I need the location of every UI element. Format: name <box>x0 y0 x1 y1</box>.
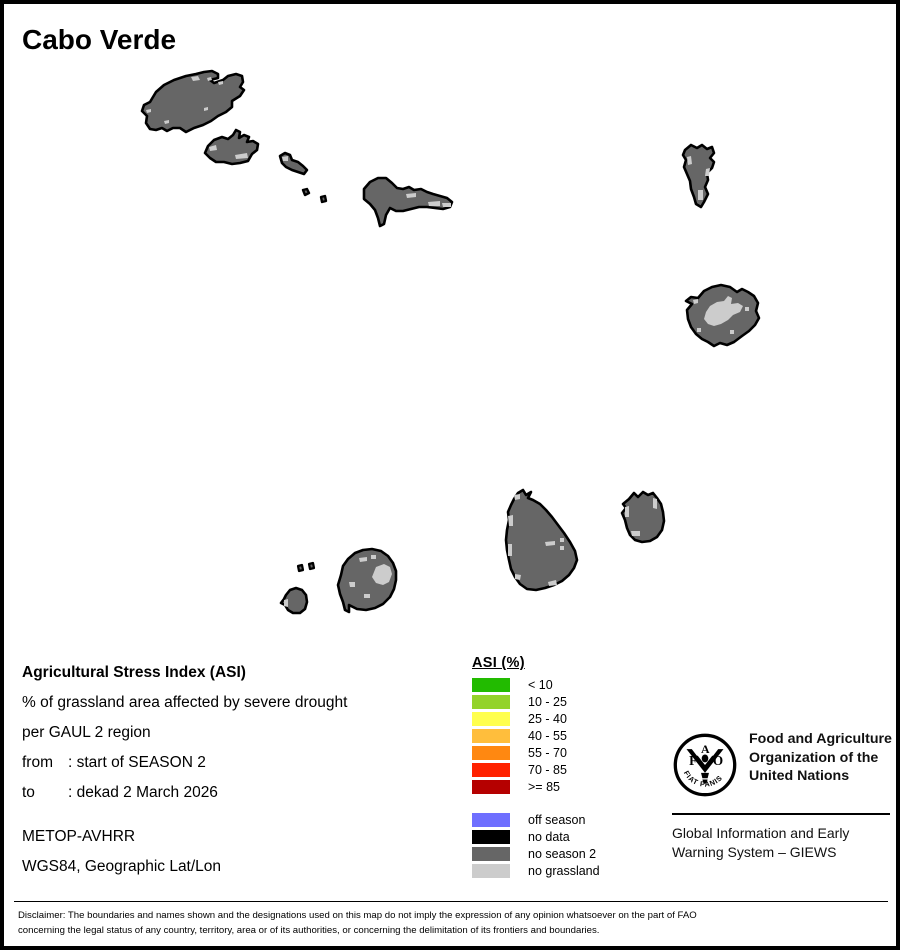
sensor-label: METOP-AVHRR <box>22 822 442 852</box>
branco-islet-landmass <box>303 189 309 195</box>
legend-row: no season 2 <box>472 845 600 862</box>
fogo-no-grassland-patch <box>364 594 370 598</box>
maio-no-grassland-patch <box>631 531 640 536</box>
period-from-value: : start of SEASON 2 <box>68 754 206 771</box>
legend-label: no season 2 <box>528 847 596 861</box>
legend-swatch <box>472 847 510 861</box>
legend-row: off season <box>472 811 600 828</box>
legend-row: < 10 <box>472 676 600 693</box>
info-heading: Agricultural Stress Index (ASI) <box>22 658 442 688</box>
rombos-islet-south-landmass <box>309 563 314 569</box>
period-to-value: : dekad 2 March 2026 <box>68 784 218 801</box>
santiago-no-grassland-patch <box>508 544 512 556</box>
island-sal <box>683 145 714 207</box>
legend-row: 40 - 55 <box>472 727 600 744</box>
info-description-line-1: % of grassland area affected by severe d… <box>22 688 442 718</box>
map-canvas <box>4 4 896 649</box>
fao-identity: F A O FIAT PANIS Food and Agriculture Or… <box>672 730 890 803</box>
fao-organization-line-1: Food and Agriculture <box>749 731 892 747</box>
fao-organization-line-3: United Nations <box>749 768 849 784</box>
santiago-no-grassland-patch <box>560 546 564 550</box>
legend-label: 40 - 55 <box>528 729 567 743</box>
boa-vista-no-grassland-patch <box>697 328 701 332</box>
legend-label: 25 - 40 <box>528 712 567 726</box>
legend-swatch <box>472 813 510 827</box>
island-brava <box>281 588 307 613</box>
island-santiago <box>506 490 577 590</box>
period-from-row: from: start of SEASON 2 <box>22 748 442 778</box>
island-santo-antao <box>142 71 244 132</box>
legend-label: 70 - 85 <box>528 763 567 777</box>
santa-luzia-landmass <box>280 153 307 174</box>
legend-row: no grassland <box>472 862 600 879</box>
svg-text:FIAT PANIS: FIAT PANIS <box>682 769 725 789</box>
fao-divider <box>672 813 890 815</box>
fogo-no-grassland-patch <box>371 555 376 559</box>
legend-swatch <box>472 830 510 844</box>
giews-programme-name: Global Information and Early Warning Sys… <box>672 824 890 862</box>
santiago-no-grassland-patch <box>514 494 520 500</box>
maio-no-grassland-patch <box>653 498 657 509</box>
santiago-no-grassland-patch <box>560 538 564 542</box>
legend-label: >= 85 <box>528 780 560 794</box>
legend-gap <box>472 795 600 811</box>
projection-label: WGS84, Geographic Lat/Lon <box>22 852 442 882</box>
sal-no-grassland-patch <box>698 190 703 200</box>
legend-swatch <box>472 763 510 777</box>
info-description-line-2: per GAUL 2 region <box>22 718 442 748</box>
legend: ASI (%) < 10 10 - 25 25 - 40 40 - 55 55 … <box>472 655 600 879</box>
info-block: Agricultural Stress Index (ASI) % of gra… <box>22 658 442 882</box>
sao-nicolau-no-grassland-patch <box>442 203 451 207</box>
legend-row: 70 - 85 <box>472 761 600 778</box>
fao-logo: F A O FIAT PANIS <box>672 732 738 803</box>
island-maio <box>622 492 664 542</box>
legend-swatch <box>472 729 510 743</box>
raso-islet-landmass <box>321 196 326 202</box>
legend-label: no grassland <box>528 864 600 878</box>
fao-organization-name: Food and Agriculture Organization of the… <box>749 730 892 786</box>
period-to-row: to: dekad 2 March 2026 <box>22 778 442 808</box>
legend-label: off season <box>528 813 585 827</box>
svg-text:O: O <box>713 753 723 768</box>
disclaimer: Disclaimer: The boundaries and names sho… <box>18 909 884 938</box>
fao-organization-line-2: Organization of the <box>749 750 878 766</box>
brava-no-grassland-patch <box>284 599 288 607</box>
legend-row: 55 - 70 <box>472 744 600 761</box>
legend-swatch <box>472 678 510 692</box>
legend-label: no data <box>528 830 570 844</box>
boa-vista-no-grassland-patch <box>745 307 749 311</box>
maio-no-grassland-patch <box>625 506 629 517</box>
legend-swatch <box>472 746 510 760</box>
island-sao-vicente <box>205 130 258 164</box>
map-page: Cabo Verde <box>0 0 900 950</box>
fao-logo-svg: F A O FIAT PANIS <box>672 732 738 798</box>
island-santa-luzia <box>280 153 307 174</box>
santiago-no-grassland-patch <box>515 574 521 580</box>
period-from-key: from <box>22 748 68 778</box>
svg-text:A: A <box>701 742 710 756</box>
fogo-no-grassland-patch <box>349 582 355 587</box>
legend-label: 10 - 25 <box>528 695 567 709</box>
fao-block: F A O FIAT PANIS Food and Agriculture Or… <box>672 730 890 862</box>
giews-line-2: Warning System – GIEWS <box>672 844 836 860</box>
legend-label: 55 - 70 <box>528 746 567 760</box>
disclaimer-divider <box>14 901 888 902</box>
legend-row: >= 85 <box>472 778 600 795</box>
giews-line-1: Global Information and Early <box>672 825 849 841</box>
legend-row: 25 - 40 <box>472 710 600 727</box>
island-sao-nicolau <box>364 178 452 226</box>
disclaimer-line-1: Disclaimer: The boundaries and names sho… <box>18 909 884 924</box>
legend-swatch <box>472 864 510 878</box>
legend-row: no data <box>472 828 600 845</box>
svg-text:F: F <box>689 753 697 768</box>
island-fogo <box>338 549 396 612</box>
legend-title: ASI (%) <box>472 655 600 671</box>
disclaimer-line-2: concerning the legal status of any count… <box>18 924 884 939</box>
island-boa-vista <box>686 285 759 346</box>
rombos-islet-north-landmass <box>298 565 303 571</box>
period-to-key: to <box>22 778 68 808</box>
info-spacer <box>22 808 442 822</box>
legend-swatch <box>472 712 510 726</box>
boa-vista-no-grassland-patch <box>730 330 734 334</box>
legend-row: 10 - 25 <box>472 693 600 710</box>
legend-swatch <box>472 695 510 709</box>
legend-label: < 10 <box>528 678 553 692</box>
legend-swatch <box>472 780 510 794</box>
